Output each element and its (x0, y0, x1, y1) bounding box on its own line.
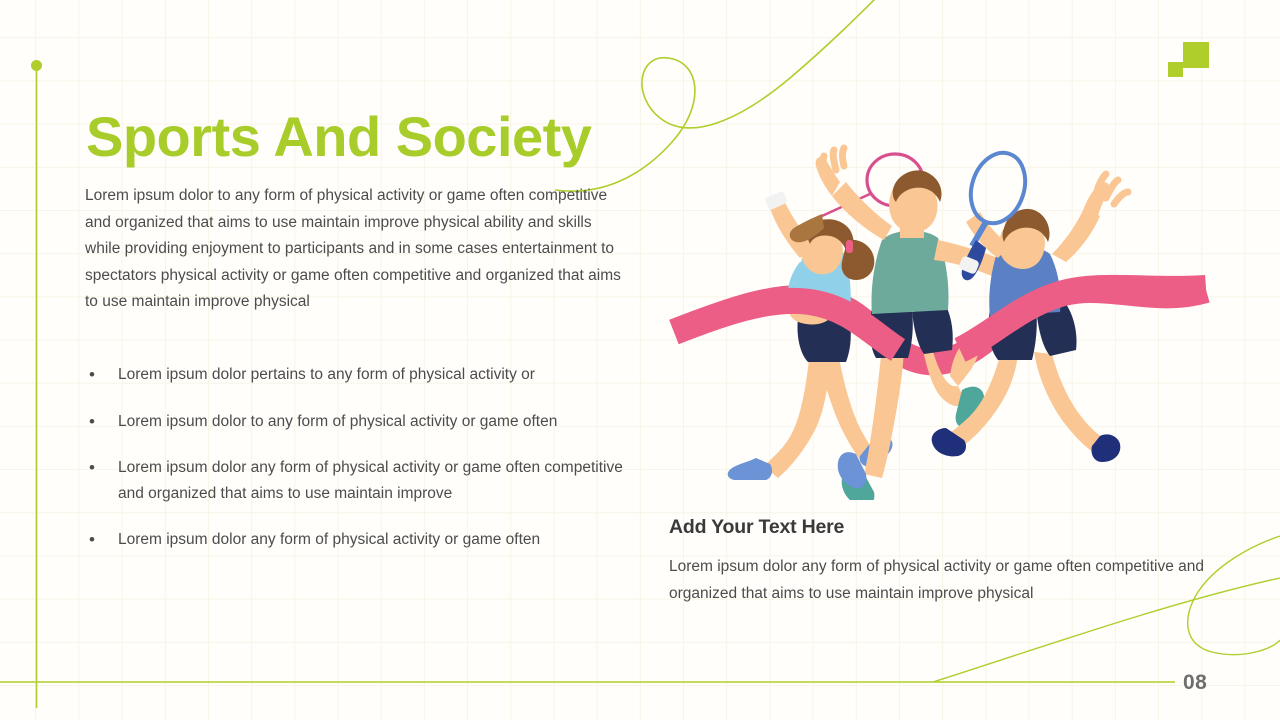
green-square-large (1183, 42, 1209, 68)
female-back-leg (764, 350, 830, 478)
right-text-body: Lorem ipsum dolor any form of physical a… (669, 553, 1209, 607)
list-item: • Lorem ipsum dolor any form of physical… (86, 455, 631, 506)
green-dot-icon (31, 60, 42, 71)
list-item: • Lorem ipsum dolor any form of physical… (86, 527, 631, 553)
list-item-label: Lorem ipsum dolor to any form of physica… (118, 409, 631, 435)
list-item-label: Lorem ipsum dolor any form of physical a… (118, 527, 631, 553)
list-item-label: Lorem ipsum dolor any form of physical a… (118, 455, 631, 506)
page-number: 08 (1183, 671, 1207, 695)
tennis-right-arm (1052, 208, 1100, 262)
athletes-illustration (660, 140, 1220, 500)
bullet-marker-icon: • (86, 527, 118, 552)
bullet-marker-icon: • (86, 362, 118, 387)
center-tank-top (871, 231, 948, 314)
female-hair-tie (846, 240, 853, 253)
intro-paragraph: Lorem ipsum dolor to any form of physica… (85, 183, 625, 316)
slide-canvas: Sports And Society Lorem ipsum dolor to … (0, 0, 1280, 720)
bullet-list: • Lorem ipsum dolor pertains to any form… (86, 362, 631, 553)
list-item: • Lorem ipsum dolor to any form of physi… (86, 409, 631, 435)
page-title: Sports And Society (86, 108, 591, 167)
tennis-front-leg (1034, 352, 1106, 454)
right-text-heading: Add Your Text Here (669, 516, 844, 539)
bullet-marker-icon: • (86, 409, 118, 434)
female-front-leg (818, 350, 876, 462)
green-square-small (1168, 62, 1183, 77)
list-item-label: Lorem ipsum dolor pertains to any form o… (118, 362, 631, 388)
center-left-fingers (823, 148, 844, 176)
list-item: • Lorem ipsum dolor pertains to any form… (86, 362, 631, 388)
bullet-marker-icon: • (86, 455, 118, 480)
female-shoe-back (728, 458, 772, 480)
